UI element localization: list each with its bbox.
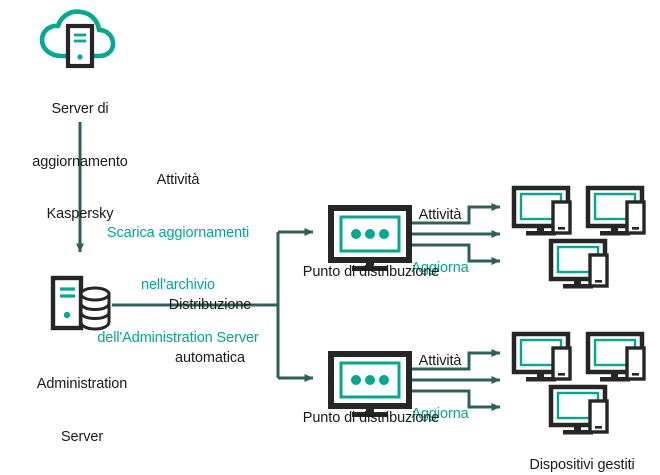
- administration-server-label-line2: Server: [8, 429, 156, 447]
- distribution-point-bottom-label: Punto di distribuzione: [286, 410, 456, 428]
- cloud-server-icon: [42, 12, 113, 66]
- auto-distribution-label: Distribuzione automatica: [140, 262, 280, 402]
- update-server-label-line1: Server di: [10, 101, 150, 119]
- auto-distribution-line2: automatica: [140, 350, 280, 368]
- monitor-phone-icon: [588, 334, 644, 382]
- download-task-head: Attività: [88, 172, 268, 190]
- monitor-phone-icon: [551, 241, 607, 289]
- monitor-phone-icon: [514, 334, 570, 382]
- administration-server-label: Administration Server: [8, 341, 156, 475]
- update-task-bottom-label: Attività Aggiorna: [388, 318, 492, 458]
- managed-devices-label: Dispositivi gestiti (più di 300): [508, 422, 656, 475]
- update-task-top-label: Attività Aggiorna: [388, 172, 492, 312]
- download-task-line1: Scarica aggiornamenti: [88, 225, 268, 243]
- update-task-top-head: Attività: [388, 207, 492, 225]
- monitor-phone-icon: [588, 188, 644, 236]
- managed-devices-label-line1: Dispositivi gestiti: [508, 457, 656, 475]
- administration-server-label-line1: Administration: [8, 376, 156, 394]
- diagram-canvas: Server di aggiornamento Kaspersky Attivi…: [0, 0, 660, 475]
- distribution-point-top-label: Punto di distribuzione: [286, 264, 456, 282]
- monitor-phone-icon: [514, 188, 570, 236]
- device-group-top: [514, 188, 644, 289]
- device-group-bottom: [514, 334, 644, 435]
- update-task-bottom-head: Attività: [388, 353, 492, 371]
- auto-distribution-line1: Distribuzione: [140, 297, 280, 315]
